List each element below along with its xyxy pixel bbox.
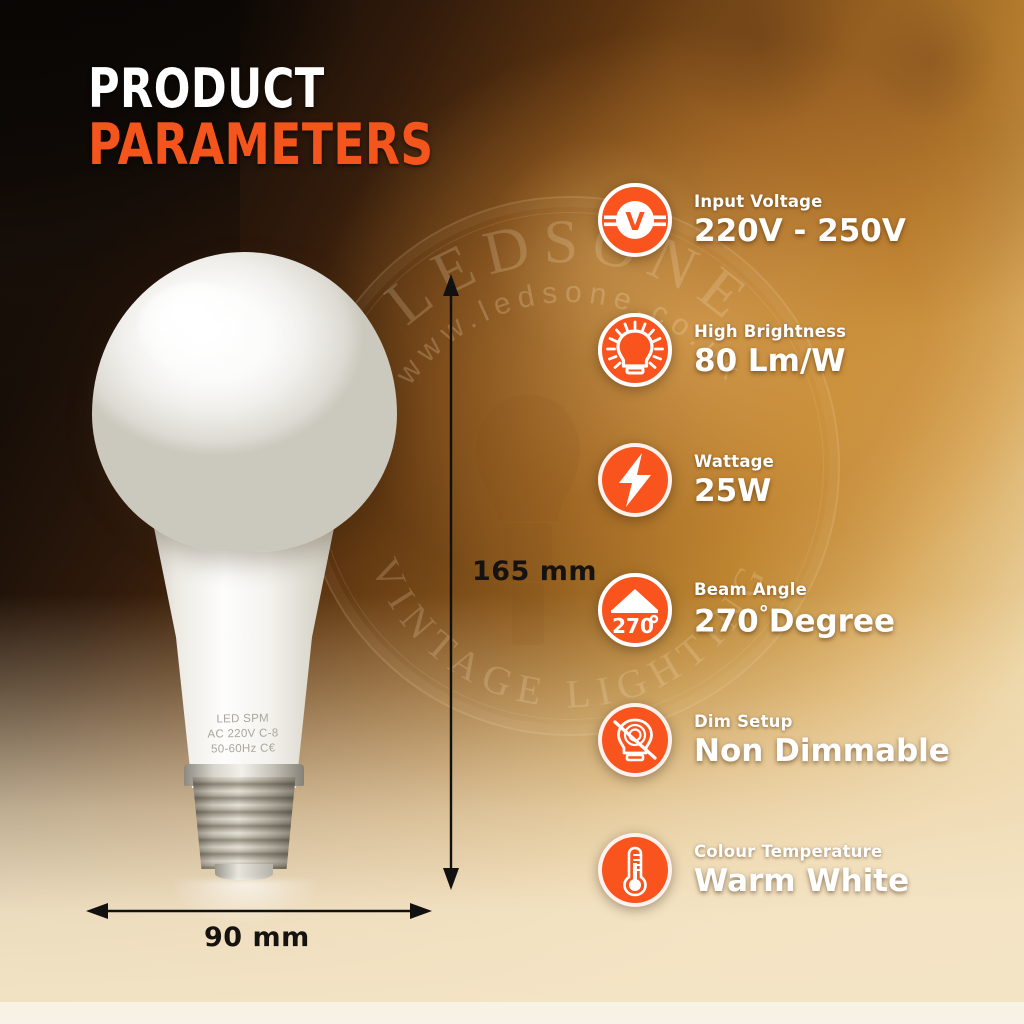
spec-row-wattage[interactable]: Wattage 25W	[598, 424, 998, 536]
spec-value-dim-setup: Non Dimmable	[694, 733, 950, 769]
beam-angle-suffix: Degree	[769, 604, 895, 640]
product-image-bulb: LED SPM AC 220V C-8 50-60Hz C€	[82, 252, 412, 912]
spec-title-input-voltage: Input Voltage	[694, 192, 906, 211]
spec-value-input-voltage: 220V - 250V	[694, 213, 906, 249]
voltage-icon: V	[598, 183, 672, 257]
spec-text-colour-temperature: Colour Temperature Warm White	[694, 842, 909, 899]
spec-row-high-brightness[interactable]: High Brightness 80 Lm/W	[598, 294, 998, 406]
title-line-parameters: PARAMETERS	[88, 119, 434, 173]
spec-value-colour-temperature: Warm White	[694, 863, 909, 899]
bulb-printed-label: LED SPM AC 220V C-8 50-60Hz C€	[168, 711, 319, 759]
thermometer-icon	[598, 833, 672, 907]
spec-title-dim-setup: Dim Setup	[694, 712, 950, 731]
spec-title-beam-angle: Beam Angle	[694, 580, 895, 599]
spec-text-wattage: Wattage 25W	[694, 452, 774, 509]
bulb-glass-dome	[92, 252, 397, 552]
infographic-canvas: LEDSONE VINTAGE LIGHTING www.ledsone.co.…	[0, 0, 1024, 1024]
lightning-bolt-icon	[598, 443, 672, 517]
beam-angle-icon-label: 270	[612, 614, 654, 638]
spec-title-wattage: Wattage	[694, 452, 774, 471]
beam-angle-number: 270	[694, 604, 759, 640]
spec-row-dim-setup[interactable]: Dim Setup Non Dimmable	[598, 684, 998, 796]
spec-value-beam-angle: 270°Degree	[694, 601, 895, 639]
spec-text-beam-angle: Beam Angle 270°Degree	[694, 580, 895, 639]
non-dimmable-icon	[598, 703, 672, 777]
bulb-screw-base-e27	[188, 777, 300, 869]
page-title: PRODUCT PARAMETERS	[88, 64, 520, 172]
beam-angle-icon: 270	[598, 573, 672, 647]
title-line-product: PRODUCT	[88, 64, 434, 115]
svg-text:V: V	[625, 207, 645, 236]
bulb-label-line-3: 50-60Hz C€	[168, 741, 318, 759]
width-dimension-label: 90 mm	[204, 922, 310, 953]
background-floor-strip	[0, 1002, 1024, 1024]
spec-title-high-brightness: High Brightness	[694, 322, 846, 341]
bulb-base-tip	[215, 864, 273, 880]
spec-value-high-brightness: 80 Lm/W	[694, 343, 846, 379]
spec-text-high-brightness: High Brightness 80 Lm/W	[694, 322, 846, 379]
degree-symbol: °	[759, 601, 769, 625]
spec-text-dim-setup: Dim Setup Non Dimmable	[694, 712, 950, 769]
spec-title-colour-temperature: Colour Temperature	[694, 842, 909, 861]
specifications-list: V Input Voltage 220V - 250V	[598, 164, 998, 926]
spec-row-input-voltage[interactable]: V Input Voltage 220V - 250V	[598, 164, 998, 276]
height-dimension-label: 165 mm	[472, 556, 597, 587]
spec-row-beam-angle[interactable]: 270 Beam Angle 270°Degree	[598, 554, 998, 666]
height-dimension-arrow	[436, 272, 466, 892]
spec-value-wattage: 25W	[694, 473, 774, 509]
spec-text-input-voltage: Input Voltage 220V - 250V	[694, 192, 906, 249]
spec-row-colour-temperature[interactable]: Colour Temperature Warm White	[598, 814, 998, 926]
brightness-bulb-icon	[598, 313, 672, 387]
